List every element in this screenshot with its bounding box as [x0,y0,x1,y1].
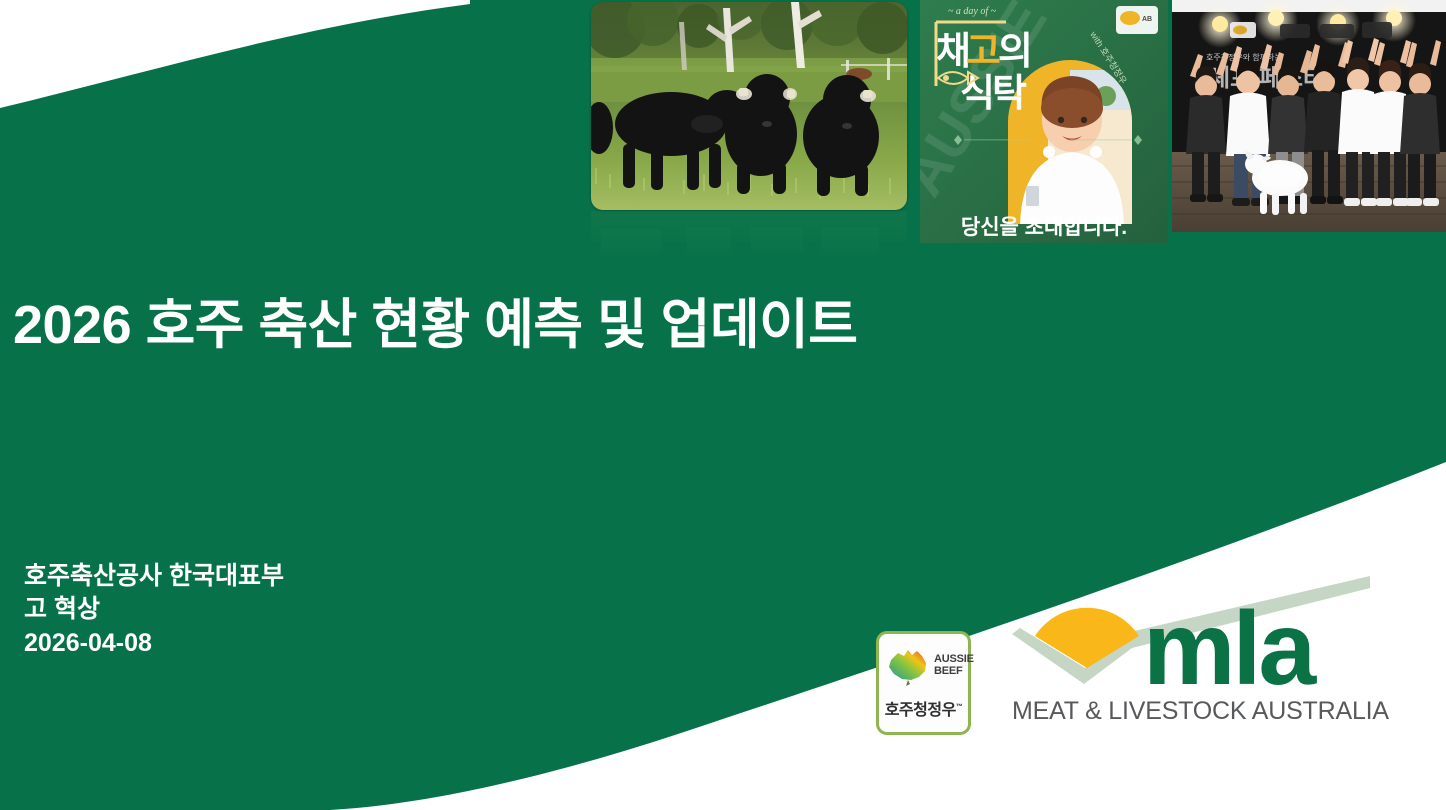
aussie-korean-text: 호주청정우 [885,702,956,719]
svg-text:탁: 탁 [992,73,1027,115]
presentation-slide: AUSSIE [0,0,1446,810]
chefs-event-illustration: 호주청정우와 함께하는 셰프 페스타 [1172,0,1446,232]
mla-tagline: MEAT & LIVESTOCK AUSTRALIA [1012,697,1377,726]
svg-text:~ a day of ~: ~ a day of ~ [948,6,997,17]
poster-caption: 당신을 초대합니다. [961,216,1127,239]
aussie-beef-logo-row: AUSSIE BEEF [884,642,968,690]
byline-presenter: 고 혁상 [24,593,284,626]
svg-text:고: 고 [966,31,1001,73]
mla-logo: mla MEAT & LIVESTOCK AUSTRALIA [1010,572,1375,732]
svg-text:호주청정우와 함께하는: 호주청정우와 함께하는 [1206,52,1282,62]
photo-cooking-show-poster: AUSSIE [920,0,1168,243]
aussie-beef-logo: AUSSIE BEEF 호주청정우™ [876,631,971,735]
photo-chefs-event: 호주청정우와 함께하는 셰프 페스타 [1172,0,1446,232]
cattle-paddock-illustration [591,2,907,210]
photo-black-angus-cattle [591,2,907,210]
byline-organization: 호주축산공사 한국대표부 [24,560,284,593]
svg-text:AB: AB [1142,16,1152,23]
svg-text:의: 의 [998,31,1033,73]
byline-block: 호주축산공사 한국대표부 고 혁상 2026-04-08 [24,560,284,660]
aussie-beef-korean-label: 호주청정우™ [879,696,968,720]
aussie-beef-wordmark: AUSSIE BEEF [934,654,974,677]
mla-mark-icon: mla [1010,572,1375,692]
aussie-line-2: BEEF [934,666,974,678]
page-title: 2026 호주 축산 현황 예측 및 업데이트 [13,296,858,355]
mla-wordmark-text: mla [1143,591,1317,692]
cooking-show-poster-illustration: AUSSIE [920,0,1168,243]
photo-reflection [591,211,907,261]
byline-date: 2026-04-08 [24,627,284,660]
australia-map-icon [884,644,932,688]
photo-strip: AUSSIE [0,0,1446,270]
trademark-symbol: ™ [956,704,963,711]
